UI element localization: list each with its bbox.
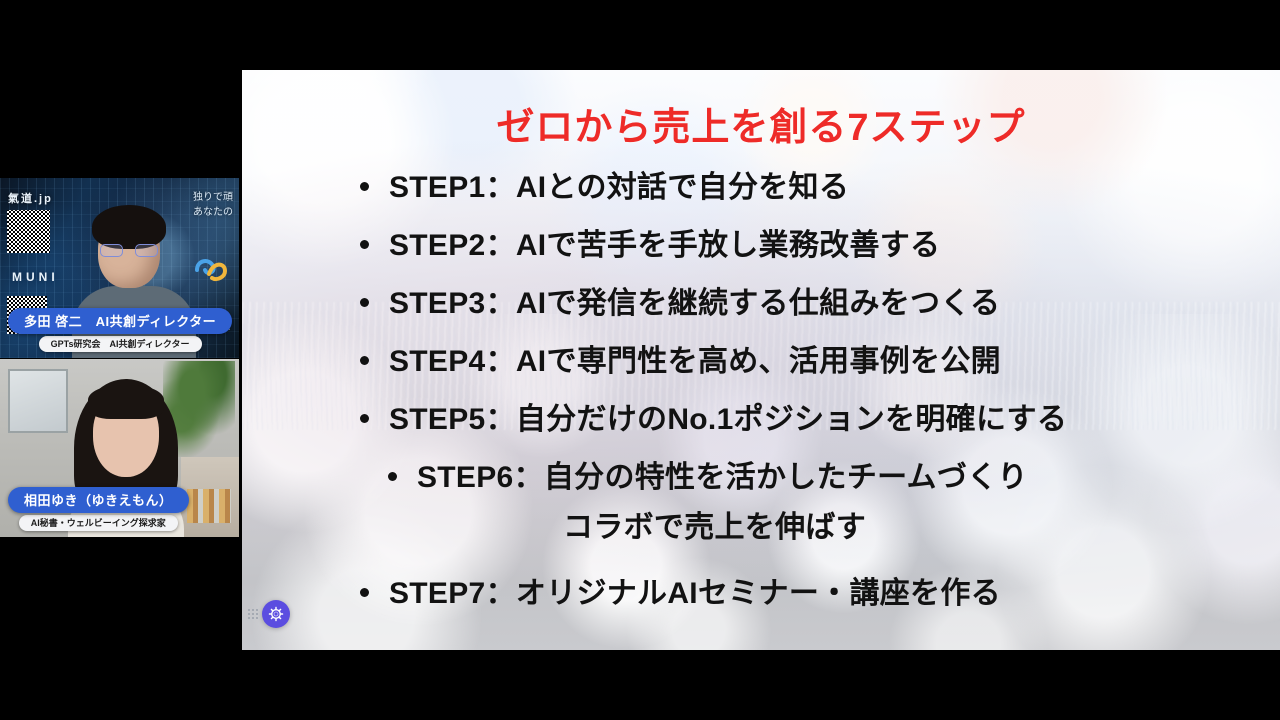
name-badge-listener: 相田ゆき（ゆきえもん） AI秘書・ウェルビーイング探求家 (8, 487, 189, 531)
gear-icon-button[interactable] (262, 600, 290, 628)
participant-subtitle: GPTs研究会 AI共創ディレクター (39, 336, 202, 352)
slide-bullet-item: STEP2：AIで苦手を手放し業務改善する (360, 224, 1252, 272)
participant-video-strip: 氣道.jp MUNI 独りで頑 あなたの AI MU AI×Direct 多田 … (0, 178, 239, 537)
slide-content: ゼロから売上を創る7ステップ STEP1：AIとの対話で自分を知るSTEP2：A… (242, 70, 1280, 650)
slide-bullet-item: コラボで売上を伸ばす (360, 506, 1252, 554)
slide-bullet-item: STEP4：AIで専門性を高め、活用事例を公開 (360, 340, 1252, 388)
slide-bullet-item: STEP6：自分の特性を活かしたチームづくり (360, 456, 1252, 504)
background-corner-line-2: あなたの (193, 205, 233, 220)
heart-swirl-logo-icon (193, 254, 229, 284)
background-corner-text: 独りで頑 あなたの (193, 190, 233, 220)
participant-tile-speaker[interactable]: 氣道.jp MUNI 独りで頑 あなたの AI MU AI×Direct 多田 … (0, 178, 239, 358)
avatar-glasses-icon (100, 244, 158, 257)
bullet-dot-icon (360, 298, 369, 307)
bullet-dot-icon (388, 472, 397, 481)
slide-floating-widget[interactable] (248, 600, 290, 628)
shared-slide[interactable]: ゼロから売上を創る7ステップ STEP1：AIとの対話で自分を知るSTEP2：A… (242, 70, 1280, 650)
background-shelf (181, 457, 239, 537)
drag-grip-icon[interactable] (248, 609, 258, 619)
slide-bullet-item: STEP1：AIとの対話で自分を知る (360, 166, 1252, 214)
qr-code-top (7, 210, 50, 253)
gear-icon (268, 606, 284, 622)
slide-bullet-text: STEP1：AIとの対話で自分を知る (389, 166, 849, 210)
avatar-hair (92, 205, 166, 249)
participant-subtitle: AI秘書・ウェルビーイング探求家 (19, 515, 178, 531)
background-logo-text: MUNI (12, 270, 59, 284)
background-brand-text: 氣道.jp (8, 190, 53, 206)
slide-title: ゼロから売上を創る7ステップ (242, 96, 1280, 151)
bullet-dot-icon (360, 414, 369, 423)
participant-name: 相田ゆき（ゆきえもん） (8, 487, 189, 513)
slide-bullet-text: STEP4：AIで専門性を高め、活用事例を公開 (389, 340, 1001, 384)
slide-bullet-text: STEP2：AIで苦手を手放し業務改善する (389, 224, 940, 268)
bullet-dot-icon (360, 356, 369, 365)
slide-bullet-item: STEP7：オリジナルAIセミナー・講座を作る (360, 572, 1252, 620)
slide-bullet-text: STEP7：オリジナルAIセミナー・講座を作る (389, 572, 1001, 616)
slide-bullet-text: STEP3：AIで発信を継続する仕組みをつくる (389, 282, 1000, 326)
bullet-dot-icon (360, 588, 369, 597)
name-badge-speaker: 多田 啓二 AI共創ディレクター GPTs研究会 AI共創ディレクター (8, 308, 232, 352)
slide-bullet-text: STEP5：自分だけのNo.1ポジションを明確にする (389, 398, 1067, 442)
participant-tile-listener[interactable]: 相田ゆき（ゆきえもん） AI秘書・ウェルビーイング探求家 (0, 359, 239, 537)
participant-name: 多田 啓二 AI共創ディレクター (8, 308, 232, 334)
bullet-dot-icon (360, 240, 369, 249)
slide-bullet-item: STEP3：AIで発信を継続する仕組みをつくる (360, 282, 1252, 330)
slide-bullet-text: コラボで売上を伸ばす (563, 506, 866, 550)
slide-bullet-text: STEP6：自分の特性を活かしたチームづくり (417, 456, 1028, 500)
slide-bullet-list: STEP1：AIとの対話で自分を知るSTEP2：AIで苦手を手放し業務改善するS… (360, 166, 1252, 630)
background-corner-line-1: 独りで頑 (193, 190, 233, 205)
avatar-hair-fringe (88, 385, 164, 419)
background-window (8, 369, 68, 433)
bullet-dot-icon (360, 182, 369, 191)
slide-bullet-item: STEP5：自分だけのNo.1ポジションを明確にする (360, 398, 1252, 446)
